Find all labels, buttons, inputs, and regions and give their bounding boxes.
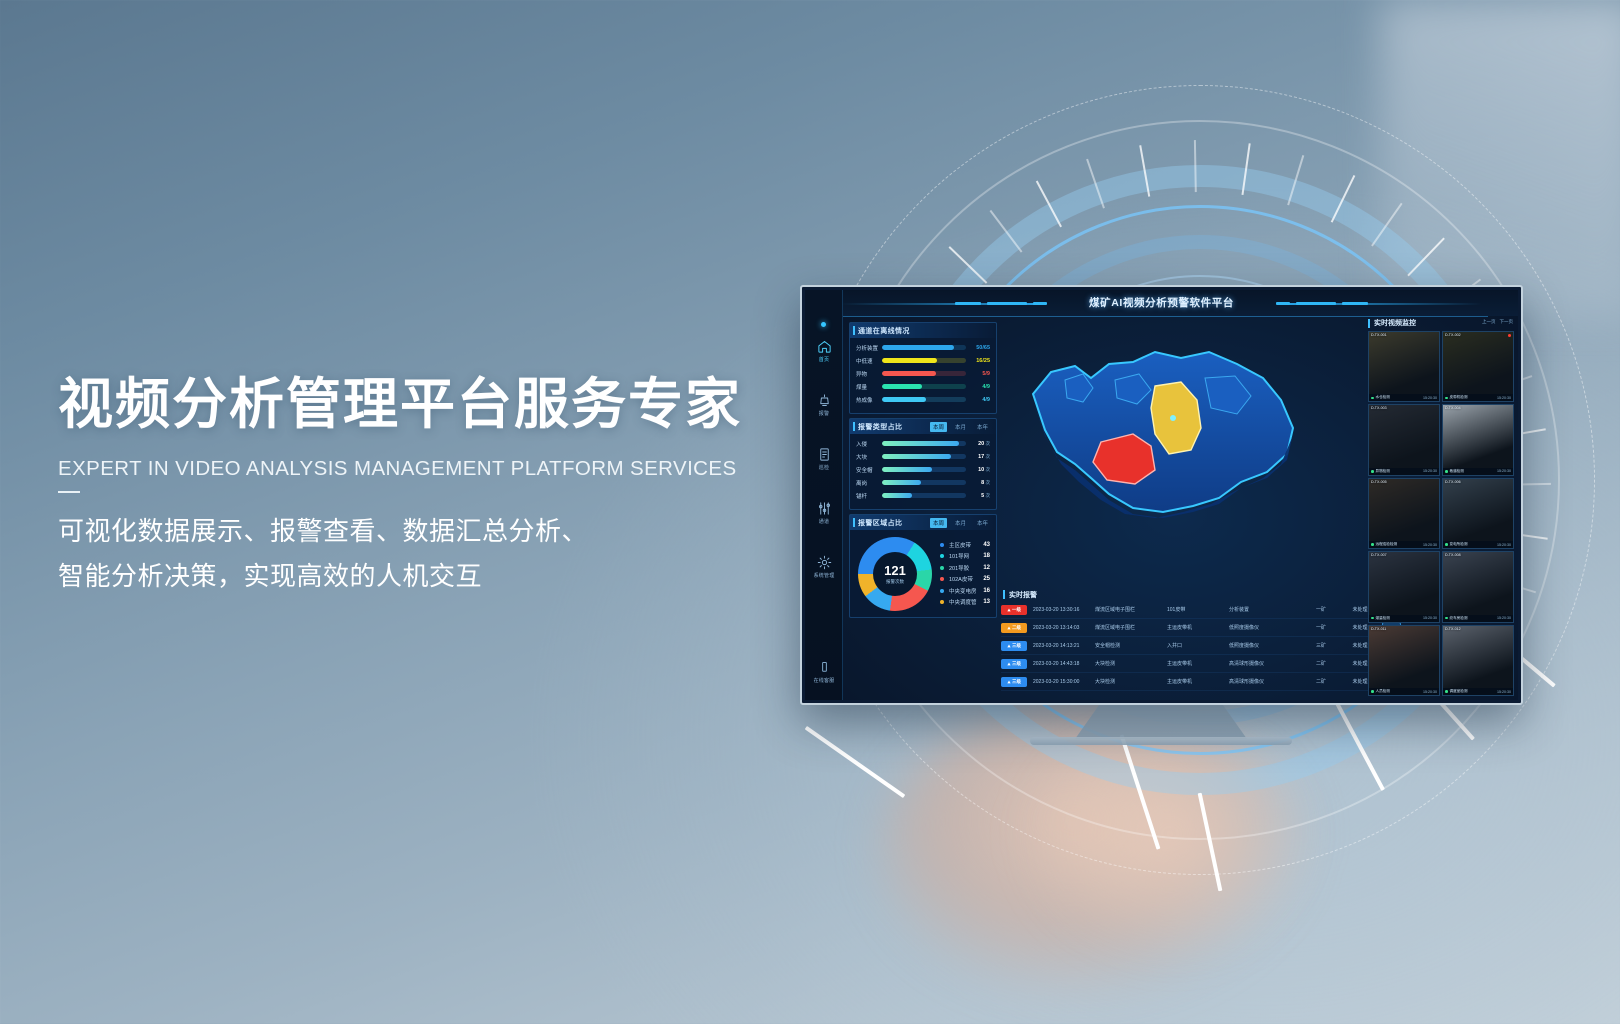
alarm-time: 2023-03-20 13:14:03 — [1033, 625, 1095, 631]
alarm-mine: 一矿 — [1301, 624, 1341, 631]
channel-bar-row: 中低速16/25 — [856, 354, 990, 367]
type-bar-value: 8 次 — [966, 480, 990, 486]
donut-chart[interactable]: 121 报警次数 — [858, 537, 932, 611]
channel-bar-fill — [882, 345, 954, 350]
alarm-table-header: 实时报警 — [1001, 588, 1405, 601]
channel-bar-track — [882, 397, 966, 402]
type-bar-fill — [882, 454, 951, 459]
sidebar-item-5[interactable]: 系统管理 — [805, 554, 843, 579]
realtime-alarm-table: 实时报警 一级2023-03-20 13:30:16煤流区域电子围栏101皮带分… — [1001, 588, 1405, 696]
channel-bar-track — [882, 371, 966, 376]
hand-photo-blur — [880, 700, 1310, 1000]
tab-本月[interactable]: 本月 — [952, 422, 969, 432]
video-thumbnail — [1369, 479, 1439, 548]
video-status-bar: 调度室检测15:20:30 — [1443, 688, 1513, 695]
legend-value: 25 — [983, 576, 990, 582]
video-thumbnail — [1369, 332, 1439, 401]
sidebar-item-2[interactable]: 报警 — [805, 392, 843, 417]
legend-color-dot — [940, 577, 944, 581]
legend-label: 102A皮带 — [949, 575, 983, 583]
channel-bar-row: 热成像4/9 — [856, 393, 990, 406]
alarm-device: 低照度摄像仪 — [1229, 624, 1301, 631]
alarm-name: 煤流区域电子围栏 — [1095, 606, 1167, 613]
channel-bar-value: 4/9 — [966, 384, 990, 390]
video-cell[interactable]: D-TX-005远程巡检检测15:20:30 — [1368, 478, 1440, 549]
video-thumbnail — [1443, 332, 1513, 401]
online-dot-icon — [1445, 397, 1448, 400]
alarm-name: 煤流区域电子围栏 — [1095, 624, 1167, 631]
hero-desc-line-1: 可视化数据展示、报警查看、数据汇总分析、 — [58, 509, 818, 554]
video-cell[interactable]: D-TX-011人员检测15:20:30 — [1368, 625, 1440, 696]
home-icon — [805, 338, 843, 354]
online-dot-icon — [1445, 543, 1448, 546]
type-bar-track — [882, 467, 966, 472]
alarm-channel: 主运皮带机 — [1167, 678, 1229, 685]
video-name: 绞车房检测 — [1450, 616, 1498, 621]
video-name: 远程巡检检测 — [1376, 542, 1424, 547]
type-bar-value: 5 次 — [966, 493, 990, 499]
dashboard-header: 煤矿AI视频分析预警软件平台 — [805, 290, 1518, 316]
status-badge: 三级 — [1001, 641, 1027, 651]
monitor-stand — [1075, 705, 1247, 739]
alarm-mine: 二矿 — [1301, 678, 1341, 685]
alarm-mine: 一矿 — [1301, 606, 1341, 613]
video-thumbnail — [1369, 405, 1439, 474]
legend-label: 中央调度管 — [949, 598, 983, 606]
channel-bar-value: 4/9 — [966, 397, 990, 403]
video-channel-tag: D-TX-007 — [1371, 553, 1387, 557]
video-monitor-panel: 实时视频监控 上一页下一页 D-TX-001水仓检测15:20:30D-TX-0… — [1366, 316, 1516, 698]
online-dot-icon — [1371, 617, 1374, 620]
online-dot-icon — [1445, 690, 1448, 693]
table-row[interactable]: 三级2023-03-20 15:30:00大块检测主运皮带机高清球形摄像仪二矿未… — [1001, 673, 1405, 691]
online-dot-icon — [1371, 470, 1374, 473]
alarm-mine: 二矿 — [1301, 660, 1341, 667]
sidebar-item-label: 巡检 — [805, 464, 843, 471]
tab-本周[interactable]: 本周 — [930, 518, 947, 528]
video-status-bar: 绞车房检测15:20:30 — [1443, 615, 1513, 622]
sidebar-item-label: 系统管理 — [805, 572, 843, 579]
video-time: 15:20:30 — [1423, 396, 1437, 400]
hand-photo-blur-inner — [1020, 730, 1320, 960]
legend-color-dot — [940, 589, 944, 593]
type-bar-value: 20 次 — [966, 441, 990, 447]
alarm-channel: 101皮带 — [1167, 606, 1229, 613]
video-time: 15:20:30 — [1423, 543, 1437, 547]
sidebar-item-label: 通道 — [805, 518, 843, 525]
sidebar-item-label: 报警 — [805, 410, 843, 417]
channel-bar-value: 50/65 — [966, 345, 990, 351]
video-name: 调度室检测 — [1450, 689, 1498, 694]
legend-value: 12 — [983, 565, 990, 571]
video-cell[interactable]: D-TX-004巷道检测15:20:30 — [1442, 404, 1514, 475]
video-time: 15:20:30 — [1497, 396, 1511, 400]
video-status-bar: 水仓检测15:20:30 — [1369, 394, 1439, 401]
type-bar-label: 安全帽 — [856, 466, 882, 474]
legend-value: 13 — [983, 599, 990, 605]
table-row[interactable]: 三级2023-03-20 14:13:21安全帽检测入井口低照度摄像仪三矿未处理… — [1001, 637, 1405, 655]
hero-subhead: EXPERT IN VIDEO ANALYSIS MANAGEMENT PLAT… — [58, 457, 818, 481]
sidebar-item-label: 首页 — [805, 356, 843, 363]
alarm-name: 大块检测 — [1095, 678, 1167, 685]
video-channel-tag: D-TX-012 — [1445, 627, 1461, 631]
alarm-name: 安全帽检测 — [1095, 642, 1167, 649]
video-name: 人员检测 — [1376, 689, 1424, 694]
channel-icon — [805, 500, 843, 516]
type-bar-row: 离岗8 次 — [856, 476, 990, 489]
video-time: 15:20:30 — [1497, 616, 1511, 620]
status-badge: 三级 — [1001, 659, 1027, 669]
channel-bar-fill — [882, 384, 922, 389]
video-nav-上一页[interactable]: 上一页 — [1482, 319, 1496, 325]
video-nav-下一页[interactable]: 下一页 — [1500, 319, 1514, 325]
channel-bar-row: 异物5/9 — [856, 367, 990, 380]
alarm-time: 2023-03-20 14:43:18 — [1033, 661, 1095, 667]
channel-bar-label: 热成像 — [856, 396, 882, 404]
video-name: 异物检测 — [1376, 469, 1424, 474]
video-channel-tag: D-TX-008 — [1445, 553, 1461, 557]
tab-本周[interactable]: 本周 — [930, 422, 947, 432]
video-thumbnail — [1369, 626, 1439, 695]
dashboard-title: 煤矿AI视频分析预警软件平台 — [805, 295, 1518, 310]
type-bar-track — [882, 454, 966, 459]
alarm-device: 高清球形摄像仪 — [1229, 660, 1301, 667]
channel-bar-label: 异物 — [856, 370, 882, 378]
panel-area-header: 报警区域占比 本周本月本年 — [850, 515, 996, 530]
service-icon — [805, 659, 843, 675]
legend-item: 主区皮带43 — [940, 539, 990, 551]
video-pagination[interactable]: 上一页下一页 — [1482, 319, 1513, 325]
alarm-time: 2023-03-20 15:30:00 — [1033, 679, 1095, 685]
type-bar-label: 锚杆 — [856, 492, 882, 500]
alarm-table-title: 实时报警 — [1009, 590, 1037, 600]
panel-types-title: 报警类型占比 — [858, 422, 902, 432]
donut-legend: 主区皮带43101导网18201导胶12102A皮带25中央变电房16中央调度管… — [940, 539, 990, 608]
video-time: 15:20:30 — [1423, 690, 1437, 694]
panel-types-header: 报警类型占比 本周本月本年 — [850, 419, 996, 434]
alarm-name: 大块检测 — [1095, 660, 1167, 667]
video-channel-tag: D-TX-004 — [1445, 406, 1461, 410]
channel-bar-value: 5/9 — [966, 371, 990, 377]
video-cell[interactable]: D-TX-007煤量检测15:20:30 — [1368, 551, 1440, 622]
type-bar-fill — [882, 493, 912, 498]
streak-decoration — [805, 726, 906, 798]
status-badge: 二级 — [1001, 623, 1027, 633]
type-bar-row: 入侵20 次 — [856, 437, 990, 450]
video-status-bar: 异物检测15:20:30 — [1369, 468, 1439, 475]
status-badge: 一级 — [1001, 605, 1027, 615]
video-thumbnail — [1443, 405, 1513, 474]
video-name: 巷道检测 — [1450, 469, 1498, 474]
panel-channel-title: 通道在离线情况 — [858, 326, 910, 336]
gear-icon — [805, 554, 843, 570]
legend-color-dot — [940, 600, 944, 604]
video-panel-title: 实时视频监控 — [1374, 318, 1416, 328]
video-time: 15:20:30 — [1497, 690, 1511, 694]
video-name: 水仓检测 — [1376, 395, 1424, 400]
video-time: 15:20:30 — [1497, 469, 1511, 473]
legend-label: 201导胶 — [949, 564, 983, 572]
panel-area-tabs[interactable]: 本周本月本年 — [930, 518, 991, 528]
type-bar-fill — [882, 480, 921, 485]
legend-item: 中央变电房16 — [940, 585, 990, 597]
sidebar-service-label: 在线客服 — [805, 677, 843, 684]
alarm-time: 2023-03-20 14:13:21 — [1033, 643, 1095, 649]
type-bar-fill — [882, 467, 932, 472]
channel-bar-label: 煤量 — [856, 383, 882, 391]
donut-total: 121 — [884, 564, 906, 577]
type-bar-track — [882, 441, 966, 446]
alarm-channel: 主运皮带机 — [1167, 624, 1229, 631]
video-thumbnail — [1443, 626, 1513, 695]
legend-item: 102A皮带25 — [940, 574, 990, 586]
monitor-stand-base — [1030, 737, 1292, 745]
legend-item: 101导网18 — [940, 551, 990, 563]
legend-color-dot — [940, 566, 944, 570]
online-dot-icon — [1371, 690, 1374, 693]
online-dot-icon — [1371, 397, 1374, 400]
streak-decoration — [1120, 734, 1161, 849]
video-cell[interactable]: D-TX-012调度室检测15:20:30 — [1442, 625, 1514, 696]
video-channel-tag: D-TX-001 — [1371, 333, 1387, 337]
channel-bar-value: 16/25 — [966, 358, 990, 364]
tab-本年[interactable]: 本年 — [974, 422, 991, 432]
tab-本年[interactable]: 本年 — [974, 518, 991, 528]
tab-本月[interactable]: 本月 — [952, 518, 969, 528]
video-cell[interactable]: D-TX-006变电所检测15:20:30 — [1442, 478, 1514, 549]
type-bar-value: 10 次 — [966, 467, 990, 473]
alarm-device: 低照度摄像仪 — [1229, 642, 1301, 649]
alarm-icon — [805, 392, 843, 408]
video-time: 15:20:30 — [1423, 616, 1437, 620]
channel-bar-fill — [882, 371, 936, 376]
video-name: 煤量检测 — [1376, 616, 1424, 621]
type-bar-fill — [882, 441, 959, 446]
type-bar-label: 入侵 — [856, 440, 882, 448]
table-row[interactable]: 二级2023-03-20 13:14:03煤流区域电子围栏主运皮带机低照度摄像仪… — [1001, 619, 1405, 637]
inspection-icon — [805, 446, 843, 462]
alarm-mine: 三矿 — [1301, 642, 1341, 649]
video-channel-tag: D-TX-011 — [1371, 627, 1386, 631]
video-time: 15:20:30 — [1497, 543, 1511, 547]
donut-center: 121 报警次数 — [873, 552, 917, 596]
legend-label: 101导网 — [949, 552, 983, 560]
panel-alarm-area: 报警区域占比 本周本月本年 121 报警次数 主区皮带43101导网18201导… — [849, 514, 997, 618]
channel-bar-row: 分析装置50/65 — [856, 341, 990, 354]
video-status-bar: 远程巡检检测15:20:30 — [1369, 541, 1439, 548]
video-channel-tag: D-TX-003 — [1371, 406, 1387, 410]
panel-types-tabs[interactable]: 本周本月本年 — [930, 422, 991, 432]
video-cell[interactable]: D-TX-003异物检测15:20:30 — [1368, 404, 1440, 475]
monitor-frame: 煤矿AI视频分析预警软件平台 首页报警巡检通道系统管理 在线客服 — [800, 285, 1523, 705]
page-title: 视频分析管理平台服务专家 — [58, 372, 818, 437]
type-bar-value: 17 次 — [966, 454, 990, 460]
channel-bar-row: 煤量4/9 — [856, 380, 990, 393]
status-dot-icon — [821, 322, 826, 327]
video-thumbnail — [1443, 479, 1513, 548]
alarm-time: 2023-03-20 13:30:16 — [1033, 607, 1095, 613]
video-name: 皮带机检测 — [1450, 395, 1498, 400]
video-status-bar: 皮带机检测15:20:30 — [1443, 394, 1513, 401]
type-bar-track — [882, 480, 966, 485]
video-status-bar: 巷道检测15:20:30 — [1443, 468, 1513, 475]
video-cell[interactable]: D-TX-001水仓检测15:20:30 — [1368, 331, 1440, 402]
channel-bar-track — [882, 384, 966, 389]
alarm-channel: 入井口 — [1167, 642, 1229, 649]
legend-color-dot — [940, 554, 944, 558]
video-channel-tag: D-TX-006 — [1445, 480, 1461, 484]
panel-alarm-types: 报警类型占比 本周本月本年 入侵20 次大块17 次安全帽10 次离岗8 次锚杆… — [849, 418, 997, 510]
type-bar-row: 大块17 次 — [856, 450, 990, 463]
panel-channel-header: 通道在离线情况 — [850, 323, 996, 338]
video-status-bar: 变电所检测15:20:30 — [1443, 541, 1513, 548]
panel-channel-status: 通道在离线情况 分析装置50/65中低速16/25异物5/9煤量4/9热成像4/… — [849, 322, 997, 414]
video-status-bar: 煤量检测15:20:30 — [1369, 615, 1439, 622]
region-map[interactable] — [1005, 322, 1335, 557]
channel-bar-fill — [882, 397, 926, 402]
panel-area-title: 报警区域占比 — [858, 518, 902, 528]
alarm-channel: 主运皮带机 — [1167, 660, 1229, 667]
divider — [58, 491, 80, 493]
legend-value: 18 — [983, 553, 990, 559]
sidebar-item-3[interactable]: 巡检 — [805, 446, 843, 471]
legend-label: 中央变电房 — [949, 587, 983, 595]
streak-decoration — [1198, 793, 1223, 892]
type-bar-track — [882, 493, 966, 498]
legend-item: 201导胶12 — [940, 562, 990, 574]
alarm-device: 高清球形摄像仪 — [1229, 678, 1301, 685]
legend-color-dot — [940, 543, 944, 547]
channel-bar-label: 分析装置 — [856, 344, 882, 352]
type-bar-row: 安全帽10 次 — [856, 463, 990, 476]
status-badge: 三级 — [1001, 677, 1027, 687]
hero-desc-line-2: 智能分析决策，实现高效的人机交互 — [58, 554, 818, 599]
dashboard-screen: 煤矿AI视频分析预警软件平台 首页报警巡检通道系统管理 在线客服 — [805, 290, 1518, 700]
channel-bar-fill — [882, 358, 937, 363]
online-dot-icon — [1445, 617, 1448, 620]
type-bar-row: 锚杆5 次 — [856, 489, 990, 502]
type-bar-label: 大块 — [856, 453, 882, 461]
sidebar-item-service[interactable]: 在线客服 — [805, 659, 843, 684]
legend-value: 43 — [983, 542, 990, 548]
channel-bar-track — [882, 345, 966, 350]
sidebar: 首页报警巡检通道系统管理 在线客服 — [805, 290, 843, 700]
video-time: 15:20:30 — [1423, 469, 1437, 473]
video-thumbnail — [1369, 552, 1439, 621]
legend-label: 主区皮带 — [949, 541, 983, 549]
donut-caption: 报警次数 — [886, 579, 904, 585]
alert-dot-icon — [1508, 334, 1511, 337]
video-thumbnail — [1443, 552, 1513, 621]
video-cell[interactable]: D-TX-008绞车房检测15:20:30 — [1442, 551, 1514, 622]
video-cell[interactable]: D-TX-002皮带机检测15:20:30 — [1442, 331, 1514, 402]
background-blur-top — [1380, 0, 1620, 320]
video-name: 变电所检测 — [1450, 542, 1498, 547]
alarm-device: 分析装置 — [1229, 606, 1301, 613]
sidebar-item-1[interactable]: 首页 — [805, 338, 843, 363]
hero-copy: 视频分析管理平台服务专家 EXPERT IN VIDEO ANALYSIS MA… — [58, 372, 818, 598]
type-bar-label: 离岗 — [856, 479, 882, 487]
online-dot-icon — [1371, 543, 1374, 546]
table-row[interactable]: 一级2023-03-20 13:30:16煤流区域电子围栏101皮带分析装置一矿… — [1001, 601, 1405, 619]
table-row[interactable]: 三级2023-03-20 14:43:18大块检测主运皮带机高清球形摄像仪二矿未… — [1001, 655, 1405, 673]
online-dot-icon — [1445, 470, 1448, 473]
video-channel-tag: D-TX-002 — [1445, 333, 1461, 337]
video-panel-header: 实时视频监控 上一页下一页 — [1366, 316, 1516, 330]
video-channel-tag: D-TX-005 — [1371, 480, 1387, 484]
channel-bar-track — [882, 358, 966, 363]
legend-value: 16 — [983, 588, 990, 594]
sidebar-item-4[interactable]: 通道 — [805, 500, 843, 525]
channel-bar-label: 中低速 — [856, 357, 882, 365]
legend-item: 中央调度管13 — [940, 597, 990, 609]
video-status-bar: 人员检测15:20:30 — [1369, 688, 1439, 695]
